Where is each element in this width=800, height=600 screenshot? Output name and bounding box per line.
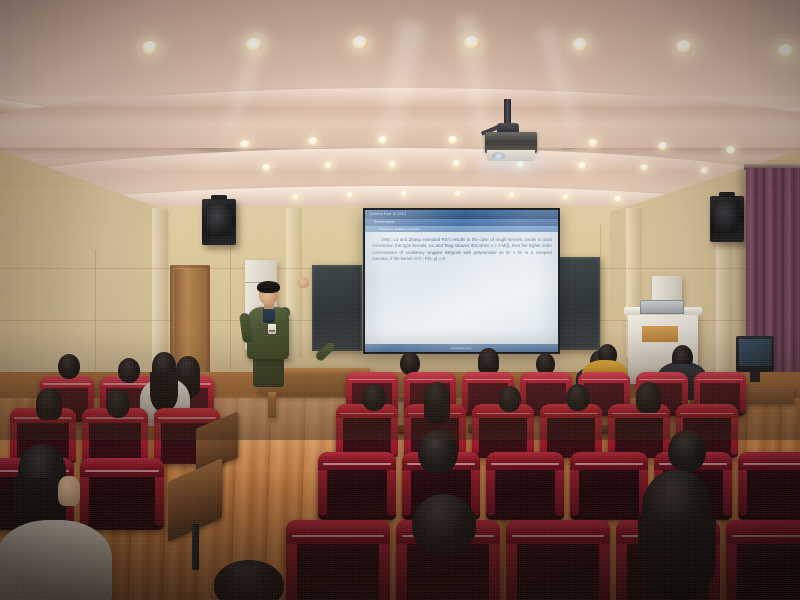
ceiling-light — [726, 146, 736, 154]
seat-headrest-trim — [318, 452, 396, 470]
ceiling-light — [246, 38, 262, 51]
ceiling-light — [700, 167, 709, 174]
lecture-hall-photo: Outline Part III 2012 Recent results Res… — [0, 0, 800, 600]
seat-headrest-trim — [486, 452, 564, 470]
ceiling-light — [640, 164, 649, 171]
ceiling-light — [388, 161, 397, 168]
speaker-bracket — [719, 192, 735, 197]
slide-subtitle-text: Recent results — [365, 219, 558, 226]
ceiling-light — [240, 140, 250, 148]
right-wall-speaker — [710, 196, 744, 242]
ceiling-light — [614, 196, 622, 202]
seat-headrest-trim — [738, 452, 800, 470]
ceiling-light — [142, 41, 158, 54]
slide-title-text: Outline Part III 2012 — [365, 210, 558, 219]
ceiling-light — [262, 164, 271, 171]
seat-headrest-trim — [286, 520, 390, 544]
auditorium-seat[interactable] — [318, 452, 396, 520]
ceiling — [0, 0, 800, 215]
presenter-eyeglasses-icon — [260, 291, 277, 296]
slide-section-text: Results for oscillatory integrals — [365, 226, 558, 232]
ceiling-light — [452, 160, 461, 167]
ceiling-light — [454, 191, 462, 197]
auditorium-seat[interactable] — [286, 520, 390, 600]
ceiling-light — [346, 192, 354, 198]
podium-laptop[interactable] — [640, 300, 684, 314]
auditorium-seat[interactable] — [570, 452, 648, 520]
auditorium-seat[interactable] — [80, 458, 164, 530]
ceiling-light — [352, 36, 368, 49]
speaker-bracket — [211, 195, 227, 200]
ceiling-light — [292, 194, 300, 200]
ceiling-light — [562, 194, 570, 200]
ceiling-arch-1 — [0, 88, 800, 148]
ceiling-light — [464, 36, 480, 49]
seat-headrest-trim — [80, 458, 164, 477]
ceiling-light — [778, 44, 794, 57]
ceiling-light — [676, 40, 692, 53]
seat-headrest-trim — [726, 520, 800, 544]
audience-hair — [638, 520, 716, 600]
ceiling-light — [658, 142, 668, 150]
slide-header-bar: Outline Part III 2012 — [365, 210, 558, 219]
auditorium-seat[interactable] — [506, 520, 610, 600]
ceiling-projector — [478, 99, 548, 161]
presenter-hand — [298, 277, 309, 288]
ceiling-light — [324, 162, 333, 169]
slide-section-bar: Results for oscillatory integrals — [365, 226, 558, 232]
slide-subheader-bar: Recent results — [365, 219, 558, 226]
ceiling-light — [308, 137, 318, 145]
student-raised-hand — [58, 476, 80, 506]
auditorium-seat[interactable] — [738, 452, 800, 520]
student-cream-sweater — [0, 520, 112, 600]
desk-support-leg — [192, 524, 199, 570]
seat-headrest-trim — [506, 520, 610, 544]
ceiling-light — [400, 191, 408, 197]
ceiling-light — [578, 162, 587, 169]
slide-body-text: 1992, Lu and Zhang extended RS's results… — [372, 237, 552, 263]
presenter-shirt — [263, 307, 275, 323]
ceiling-light — [508, 192, 516, 198]
projector-beam-glow — [466, 149, 562, 179]
ceiling-light — [448, 136, 458, 144]
audience-head — [412, 494, 476, 556]
auditorium-seat[interactable] — [726, 520, 800, 600]
left-wall-speaker — [202, 199, 236, 245]
ceiling-light — [572, 38, 588, 51]
auditorium-seat[interactable] — [486, 452, 564, 520]
wall-shadow-overlay — [0, 330, 800, 440]
seat-headrest-trim — [570, 452, 648, 470]
ceiling-light — [378, 136, 388, 144]
ceiling-light — [588, 139, 598, 147]
